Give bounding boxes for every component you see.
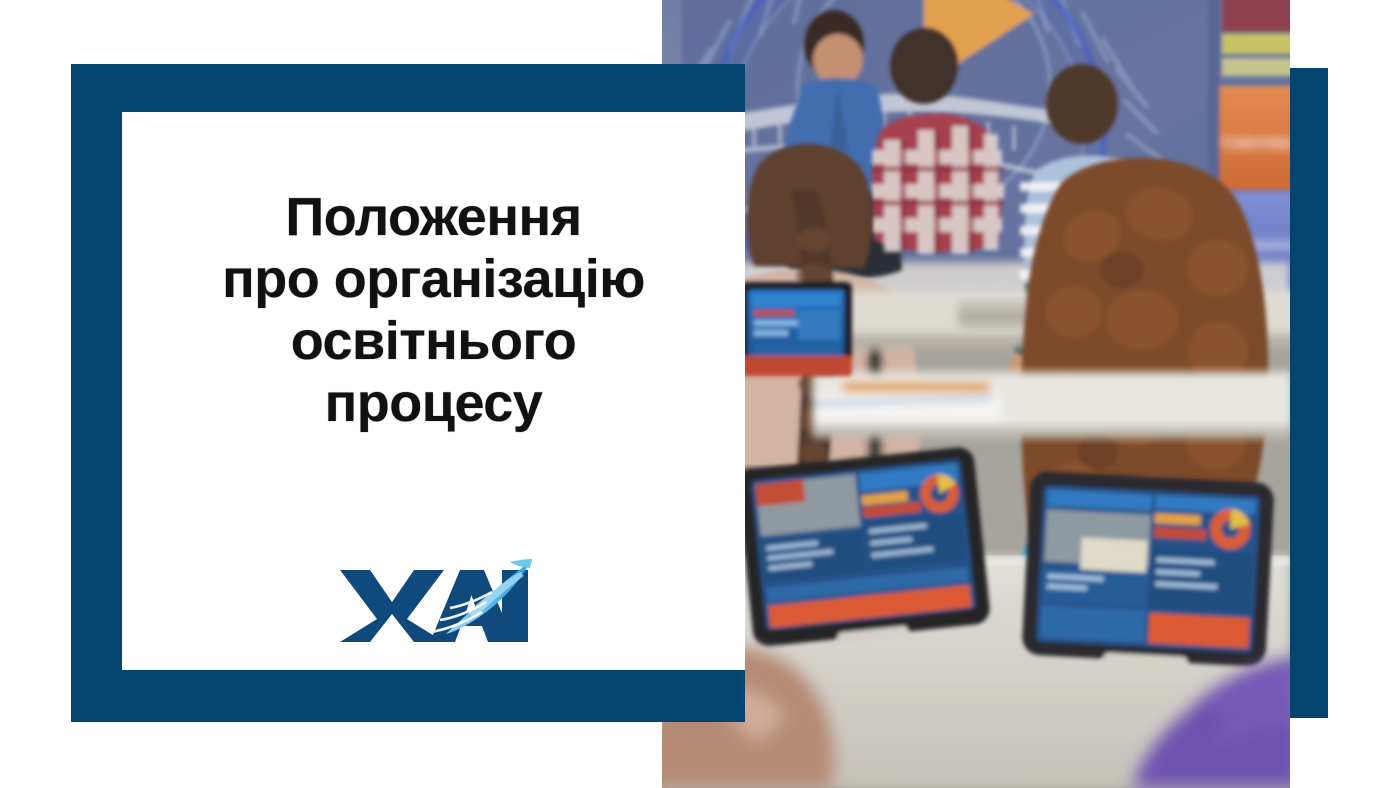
page-title-line-3: освітнього — [122, 310, 745, 372]
title-card: Положення про організацію освітнього про… — [122, 112, 745, 670]
page-title-line-4: процесу — [122, 372, 745, 434]
xai-logo — [334, 556, 534, 648]
page-title-line-2: про організацію — [122, 248, 745, 310]
logo-container — [122, 556, 745, 648]
xai-letter-a — [430, 570, 514, 642]
navy-frame-right-strip — [1290, 68, 1328, 718]
page-title: Положення про організацію освітнього про… — [122, 112, 745, 434]
classroom-photo-illustration: Calendar Announcements — [662, 0, 1290, 788]
slide-canvas: Calendar Announcements — [0, 0, 1400, 788]
xai-letter-x — [340, 570, 444, 642]
classroom-photo: Calendar Announcements — [662, 0, 1290, 788]
page-title-line-1: Положення — [122, 186, 745, 248]
